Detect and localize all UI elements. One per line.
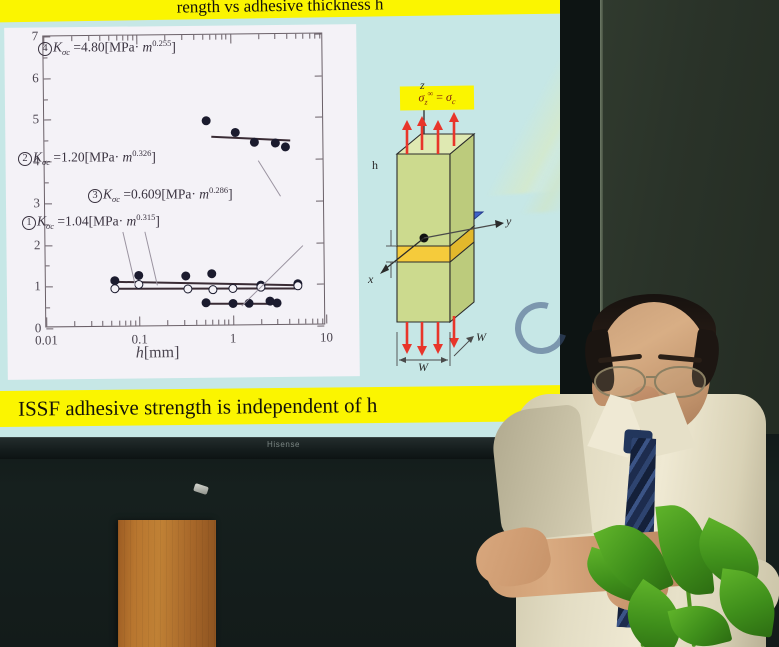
data-point bbox=[207, 269, 216, 278]
data-point bbox=[228, 284, 237, 293]
x-axis-minor-tick bbox=[196, 320, 197, 325]
x-axis-minor-tick bbox=[135, 320, 136, 325]
x-axis-minor-tick bbox=[218, 320, 219, 325]
data-point bbox=[250, 138, 259, 147]
y-axis-minor-tick bbox=[45, 182, 49, 183]
x-axis-minor-tick bbox=[131, 321, 132, 326]
data-point bbox=[135, 280, 144, 289]
y-axis-tick-label: 3 bbox=[33, 195, 40, 211]
y-axis-tick bbox=[45, 203, 52, 204]
data-point bbox=[183, 284, 192, 293]
x-axis-minor-tick bbox=[209, 35, 210, 40]
annotation-leader-line bbox=[258, 160, 281, 196]
y-axis-tick bbox=[46, 328, 53, 329]
presentation-slide: rength vs adhesive thickness h 012345670… bbox=[0, 0, 560, 437]
y-axis-tick bbox=[316, 159, 323, 160]
x-axis-minor-tick bbox=[229, 320, 230, 325]
x-axis-tick bbox=[140, 316, 141, 325]
y-axis-tick bbox=[316, 200, 323, 201]
annotation-leader-line bbox=[122, 232, 136, 286]
x-axis-minor-tick bbox=[258, 34, 259, 39]
y-axis-tick bbox=[44, 78, 51, 79]
y-axis-tick bbox=[44, 120, 51, 121]
x-axis-tick-label: 0.01 bbox=[35, 332, 58, 348]
x-axis-tick bbox=[326, 314, 327, 323]
y-axis-minor-tick bbox=[43, 57, 47, 58]
data-point bbox=[293, 281, 302, 290]
slide-conclusion-banner: ISSF adhesive strength is independent of… bbox=[0, 385, 560, 427]
axis-label-x: x bbox=[368, 272, 373, 287]
y-axis-tick bbox=[317, 284, 324, 285]
podium-wood-grain bbox=[118, 520, 216, 647]
x-axis-minor-tick bbox=[274, 34, 275, 39]
data-point bbox=[228, 299, 237, 308]
annotation-1: 1Kσc =1.04[MPa· m0.315] bbox=[22, 212, 160, 231]
data-point bbox=[135, 271, 144, 280]
x-axis-minor-tick bbox=[312, 319, 313, 324]
x-axis-minor-tick bbox=[303, 34, 304, 39]
wooden-podium bbox=[118, 520, 216, 647]
x-axis-minor-tick bbox=[168, 320, 169, 325]
x-axis-tick bbox=[46, 317, 47, 326]
y-axis-tick-label: 5 bbox=[33, 112, 40, 128]
x-axis-minor-tick bbox=[202, 35, 203, 40]
data-point bbox=[271, 139, 280, 148]
axis-label-y: y bbox=[506, 214, 511, 229]
x-axis-minor-tick bbox=[181, 35, 182, 40]
annotation-4: 4Kσc =4.80[MPa· m0.255] bbox=[38, 38, 176, 57]
x-axis-minor-tick bbox=[224, 320, 225, 325]
label-w-side: W bbox=[476, 330, 486, 345]
x-axis-minor-tick bbox=[74, 321, 75, 326]
annotation-leader-line bbox=[144, 231, 158, 285]
x-axis-minor-tick bbox=[309, 34, 310, 39]
background-logo bbox=[506, 293, 576, 363]
x-axis-minor-tick bbox=[261, 319, 262, 324]
lecture-photo-scene: rength vs adhesive thickness h 012345670… bbox=[0, 0, 779, 647]
y-axis-tick bbox=[316, 242, 323, 243]
data-point bbox=[230, 128, 239, 137]
x-axis-minor-tick bbox=[184, 320, 185, 325]
data-point bbox=[110, 284, 119, 293]
x-axis-minor-tick bbox=[102, 321, 103, 326]
x-axis-tick bbox=[233, 315, 234, 324]
x-axis-minor-tick bbox=[125, 321, 126, 326]
display-screen: rength vs adhesive thickness h 012345670… bbox=[0, 0, 560, 437]
y-axis-tick bbox=[315, 117, 322, 118]
x-axis-minor-tick bbox=[298, 319, 299, 324]
slide-conclusion-text: ISSF adhesive strength is independent of… bbox=[18, 392, 378, 421]
x-axis-title: h[mm] bbox=[136, 344, 180, 362]
x-axis-tick-label: 10 bbox=[320, 329, 333, 345]
x-axis-minor-tick bbox=[212, 320, 213, 325]
x-axis-minor-tick bbox=[277, 319, 278, 324]
data-point bbox=[202, 116, 211, 125]
slide-title-text: rength vs adhesive thickness h bbox=[176, 0, 383, 18]
data-point bbox=[182, 272, 191, 281]
y-axis-tick bbox=[45, 245, 52, 246]
y-axis-tick-label: 6 bbox=[32, 70, 39, 86]
x-axis-minor-tick bbox=[226, 35, 227, 40]
y-axis-minor-tick bbox=[44, 99, 48, 100]
display-brand-label: Hisense bbox=[267, 440, 300, 449]
x-axis-minor-tick bbox=[295, 34, 296, 39]
x-axis-minor-tick bbox=[205, 320, 206, 325]
plot-frame: 012345670.010.1110 bbox=[42, 33, 325, 328]
sigma-equation-box: σz∞ = σc bbox=[400, 85, 474, 110]
y-axis-minor-tick bbox=[46, 266, 50, 267]
x-axis-minor-tick bbox=[215, 35, 216, 40]
x-axis-tick bbox=[230, 34, 231, 43]
x-axis-minor-tick bbox=[322, 319, 323, 324]
x-axis-minor-tick bbox=[306, 319, 307, 324]
y-axis-minor-tick bbox=[44, 141, 48, 142]
label-h: h bbox=[372, 158, 378, 173]
y-axis-tick bbox=[315, 75, 322, 76]
y-axis-minor-tick bbox=[46, 308, 50, 309]
x-axis-minor-tick bbox=[193, 35, 194, 40]
x-axis-minor-tick bbox=[111, 321, 112, 326]
x-axis-minor-tick bbox=[317, 319, 318, 324]
y-axis-tick bbox=[314, 34, 321, 35]
axis-label-z: z bbox=[420, 78, 425, 93]
data-point bbox=[273, 299, 282, 308]
y-axis-tick-label: 1 bbox=[34, 278, 41, 294]
data-point bbox=[209, 285, 218, 294]
slide-title-banner: rength vs adhesive thickness h bbox=[0, 0, 560, 23]
x-axis-minor-tick bbox=[314, 34, 315, 39]
y-axis-tick bbox=[46, 287, 53, 288]
label-w-front: W bbox=[418, 360, 428, 375]
annotation-2: 2Kσc =1.20[MPa· m0.326] bbox=[18, 148, 156, 167]
glasses-bridge bbox=[646, 376, 656, 378]
annotation-3: 3Kσc =0.609[MPa· m0.286] bbox=[88, 185, 233, 204]
x-axis-tick-label: 1 bbox=[230, 330, 237, 346]
x-axis-minor-tick bbox=[91, 321, 92, 326]
x-axis-minor-tick bbox=[221, 35, 222, 40]
data-point bbox=[281, 142, 290, 151]
x-axis-minor-tick bbox=[119, 321, 120, 326]
x-axis-minor-tick bbox=[289, 319, 290, 324]
glasses-lens-left bbox=[594, 366, 646, 398]
x-axis-minor-tick bbox=[286, 34, 287, 39]
x-axis-minor-tick bbox=[319, 34, 320, 39]
y-axis-tick bbox=[317, 326, 324, 327]
foreground-plant bbox=[576, 500, 779, 647]
data-point bbox=[202, 298, 211, 307]
y-axis-tick-label: 2 bbox=[34, 237, 41, 253]
glasses-lens-right bbox=[654, 366, 706, 398]
